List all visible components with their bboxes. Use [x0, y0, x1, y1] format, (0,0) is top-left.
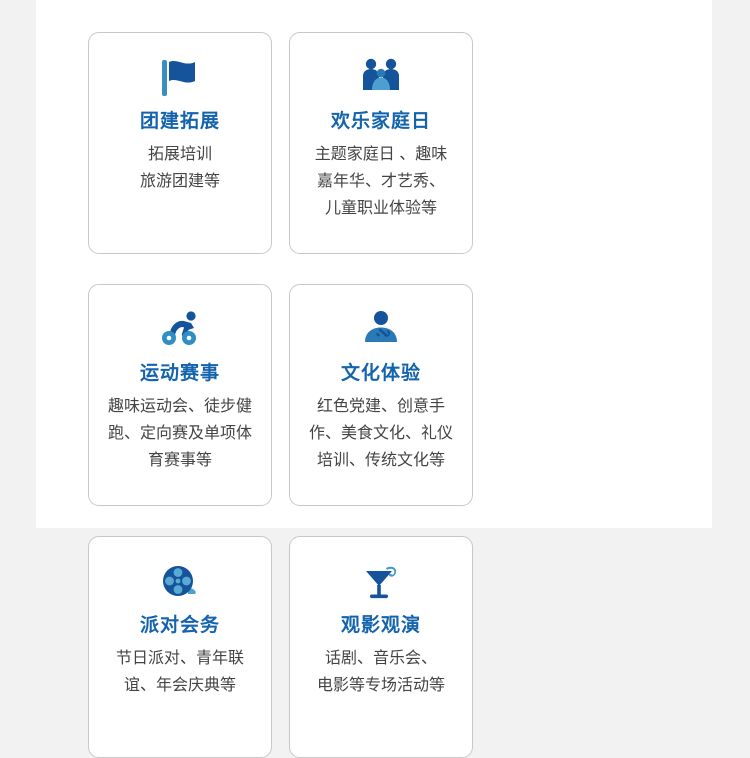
service-card-party-events[interactable]: 派对会务 节日派对、青年联谊、年会庆典等: [88, 536, 272, 758]
card-title: 欢乐家庭日: [331, 109, 431, 135]
page-root: 团建拓展 拓展培训旅游团建等 欢乐家庭日 主题家庭日 、趣味嘉年华、才艺: [0, 0, 750, 539]
card-title: 团建拓展: [140, 109, 220, 135]
card-description: 主题家庭日 、趣味嘉年华、才艺秀、儿童职业体验等: [306, 141, 456, 222]
service-card-team-building[interactable]: 团建拓展 拓展培训旅游团建等: [88, 32, 272, 254]
card-title: 派对会务: [140, 613, 220, 639]
cyclist-icon: [152, 305, 208, 355]
card-description: 话剧、音乐会、电影等专场活动等: [306, 645, 456, 699]
cocktail-icon: [353, 557, 409, 607]
service-card-culture-experience[interactable]: 文化体验 红色党建、创意手作、美食文化、礼仪培训、传统文化等: [289, 284, 473, 506]
film-reel-icon: [152, 557, 208, 607]
flag-icon: [152, 53, 208, 103]
party-emblem-person-icon: [353, 305, 409, 355]
service-card-shows-movies[interactable]: 观影观演 话剧、音乐会、电影等专场活动等: [289, 536, 473, 758]
card-title: 运动赛事: [140, 361, 220, 387]
card-description: 节日派对、青年联谊、年会庆典等: [105, 645, 255, 699]
card-description: 趣味运动会、徒步健跑、定向赛及单项体育赛事等: [105, 393, 255, 474]
content-panel: 团建拓展 拓展培训旅游团建等 欢乐家庭日 主题家庭日 、趣味嘉年华、才艺: [36, 0, 712, 528]
family-icon: [353, 53, 409, 103]
service-category-grid: 团建拓展 拓展培训旅游团建等 欢乐家庭日 主题家庭日 、趣味嘉年华、才艺: [88, 32, 673, 758]
card-description: 红色党建、创意手作、美食文化、礼仪培训、传统文化等: [306, 393, 456, 474]
card-title: 观影观演: [341, 613, 421, 639]
service-card-family-day[interactable]: 欢乐家庭日 主题家庭日 、趣味嘉年华、才艺秀、儿童职业体验等: [289, 32, 473, 254]
card-description: 拓展培训旅游团建等: [105, 141, 255, 195]
service-card-sports-events[interactable]: 运动赛事 趣味运动会、徒步健跑、定向赛及单项体育赛事等: [88, 284, 272, 506]
card-title: 文化体验: [341, 361, 421, 387]
